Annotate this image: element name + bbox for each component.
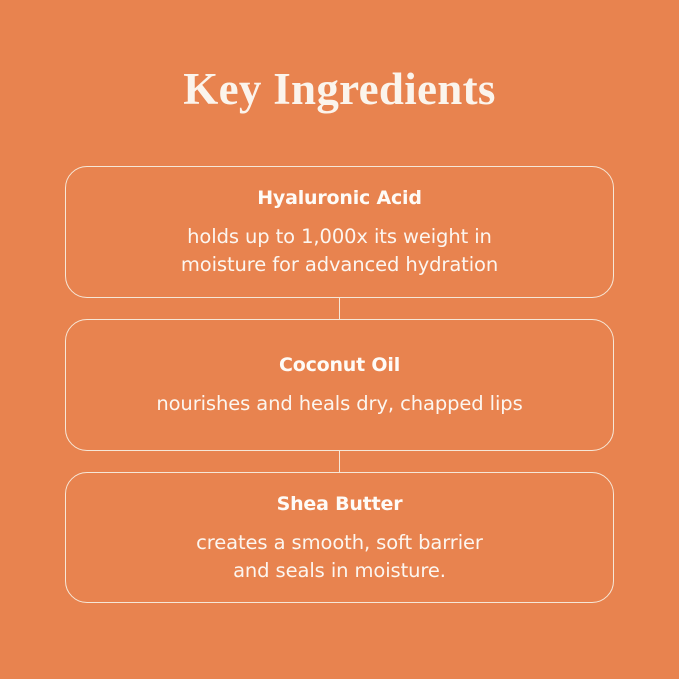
key-ingredients-poster: Key Ingredients Hyaluronic Acid holds up… bbox=[0, 0, 679, 679]
ingredient-card-hyaluronic-acid: Hyaluronic Acid holds up to 1,000x its w… bbox=[65, 166, 614, 298]
description-line: and seals in moisture. bbox=[196, 557, 483, 585]
ingredient-name: Coconut Oil bbox=[279, 352, 400, 378]
description-line: creates a smooth, soft barrier bbox=[196, 529, 483, 557]
ingredient-description: nourishes and heals dry, chapped lips bbox=[156, 390, 522, 418]
ingredient-card-list: Hyaluronic Acid holds up to 1,000x its w… bbox=[65, 166, 614, 603]
description-line: nourishes and heals dry, chapped lips bbox=[156, 390, 522, 418]
ingredient-card-shea-butter: Shea Butter creates a smooth, soft barri… bbox=[65, 472, 614, 603]
ingredient-name: Shea Butter bbox=[277, 491, 403, 517]
ingredient-description: creates a smooth, soft barrier and seals… bbox=[196, 529, 483, 585]
ingredient-name: Hyaluronic Acid bbox=[257, 185, 422, 211]
ingredient-card-coconut-oil: Coconut Oil nourishes and heals dry, cha… bbox=[65, 319, 614, 451]
description-line: moisture for advanced hydration bbox=[181, 251, 498, 279]
connector-line-2 bbox=[65, 451, 614, 472]
ingredient-description: holds up to 1,000x its weight in moistur… bbox=[181, 223, 498, 279]
page-title: Key Ingredients bbox=[0, 62, 679, 116]
description-line: holds up to 1,000x its weight in bbox=[181, 223, 498, 251]
connector-line-1 bbox=[65, 298, 614, 319]
